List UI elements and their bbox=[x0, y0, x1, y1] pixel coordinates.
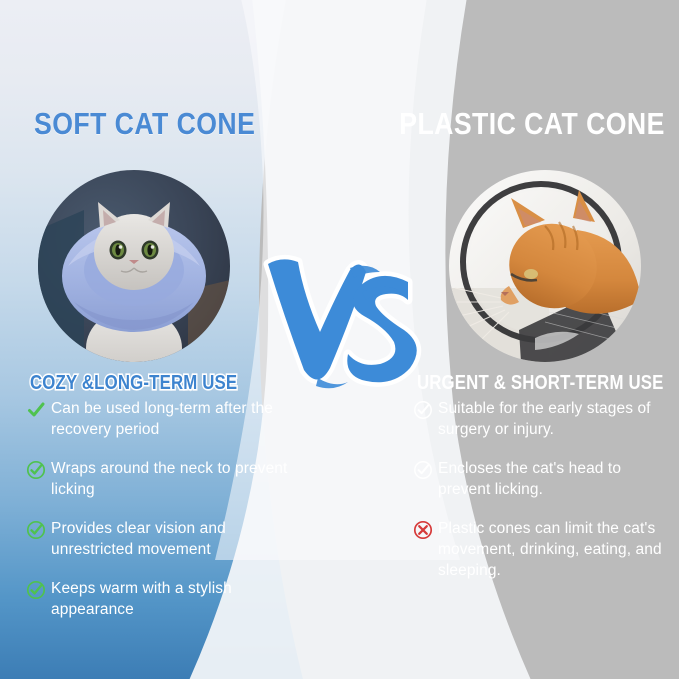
list-item: Can be used long-term after the recovery… bbox=[26, 398, 288, 440]
left-subhead: COZY &LONG-TERM USE bbox=[30, 372, 237, 395]
list-item-label: Can be used long-term after the recovery… bbox=[51, 398, 288, 440]
check-circle-icon bbox=[26, 460, 46, 480]
check-icon bbox=[26, 400, 46, 420]
list-item: Provides clear vision and unrestricted m… bbox=[26, 518, 288, 560]
right-subhead: URGENT & SHORT-TERM USE bbox=[416, 372, 663, 395]
cross-circle-icon bbox=[413, 520, 433, 540]
check-circle-icon bbox=[26, 580, 46, 600]
check-circle-outline-icon bbox=[413, 460, 433, 480]
right-product-photo bbox=[449, 170, 641, 362]
right-title: PLASTIC CAT CONE bbox=[399, 106, 665, 142]
list-item: Plastic cones can limit the cat's moveme… bbox=[413, 518, 669, 581]
left-product-photo bbox=[38, 170, 230, 362]
check-circle-outline-icon bbox=[413, 400, 433, 420]
left-benefits-list: Can be used long-term after the recovery… bbox=[26, 398, 288, 638]
cat-cone-comparison-infographic: SOFT CAT CONE PLASTIC CAT CONE bbox=[0, 0, 679, 679]
list-item-label: Provides clear vision and unrestricted m… bbox=[51, 518, 288, 560]
list-item-label: Wraps around the neck to prevent licking bbox=[51, 458, 288, 500]
list-item-label: Suitable for the early stages of surgery… bbox=[438, 398, 669, 440]
check-circle-icon bbox=[26, 520, 46, 540]
vs-badge bbox=[258, 250, 426, 405]
list-item: Keeps warm with a stylish appearance bbox=[26, 578, 288, 620]
list-item: Encloses the cat's head to prevent licki… bbox=[413, 458, 669, 500]
list-item-label: Keeps warm with a stylish appearance bbox=[51, 578, 288, 620]
list-item-label: Plastic cones can limit the cat's moveme… bbox=[438, 518, 669, 581]
list-item-label: Encloses the cat's head to prevent licki… bbox=[438, 458, 669, 500]
list-item: Suitable for the early stages of surgery… bbox=[413, 398, 669, 440]
left-title: SOFT CAT CONE bbox=[34, 106, 255, 142]
right-drawbacks-list: Suitable for the early stages of surgery… bbox=[413, 398, 669, 599]
list-item: Wraps around the neck to prevent licking bbox=[26, 458, 288, 500]
